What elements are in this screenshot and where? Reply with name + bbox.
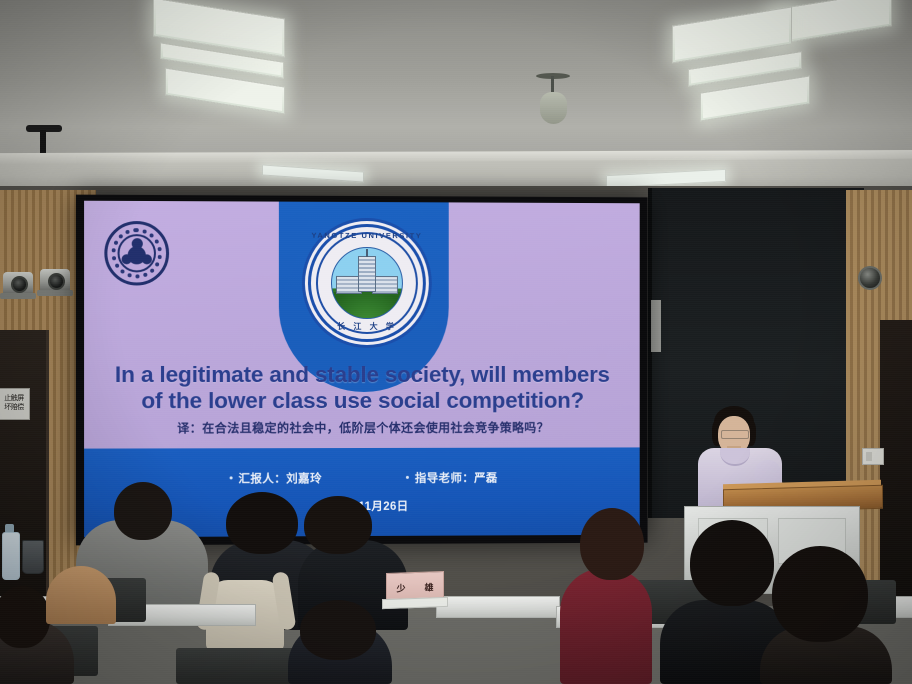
presentation-slide: YANGTZE UNIVERSITY 长 江 大 学 In a legitima… bbox=[84, 201, 640, 538]
university-seal: YANGTZE UNIVERSITY 长 江 大 学 bbox=[308, 224, 426, 342]
slide-title-cn: 译：在合法且稳定的社会中，低阶层个体还会使用社会竞争策略吗？ bbox=[98, 419, 626, 437]
audience-head bbox=[304, 496, 372, 554]
light-switch-plate[interactable] bbox=[862, 448, 884, 465]
blackboard-edge-label bbox=[651, 300, 661, 352]
audience-head bbox=[0, 586, 50, 648]
camera-base bbox=[0, 293, 36, 299]
warning-sign-line1: 止触屏 bbox=[4, 395, 24, 404]
audience-head bbox=[772, 546, 868, 642]
desk-row bbox=[436, 596, 560, 618]
slide-footer-row-credits: 汇报人：刘嘉玲 指导老师：严磊 bbox=[84, 469, 640, 487]
dome-camera-icon bbox=[858, 266, 882, 290]
warning-sign-line2: 坏赔偿 bbox=[4, 404, 24, 413]
slide-title-en-line2: of the lower class use social competitio… bbox=[98, 388, 626, 415]
door-right[interactable] bbox=[880, 320, 912, 610]
society-logo-icon bbox=[104, 221, 169, 286]
warning-sign: 止触屏 坏赔偿 bbox=[0, 388, 30, 420]
ceiling-dome-speaker-icon bbox=[540, 92, 567, 124]
ptz-camera-icon bbox=[40, 269, 70, 291]
chair-back bbox=[176, 648, 296, 684]
audience-shoulders bbox=[560, 568, 652, 684]
nameplate-char2: 雄 bbox=[424, 580, 433, 593]
thermos-cup bbox=[22, 540, 44, 574]
logo-figure-head bbox=[142, 254, 152, 264]
seal-text-en: YANGTZE UNIVERSITY bbox=[311, 231, 423, 240]
nameplate-char1: 少 bbox=[396, 581, 405, 594]
audience-head bbox=[690, 520, 774, 606]
seal-emblem bbox=[331, 247, 403, 319]
slide-title-en: In a legitimate and stable society, will… bbox=[98, 362, 626, 415]
logo-figure-head bbox=[132, 238, 143, 249]
camera-lens-icon bbox=[48, 273, 65, 290]
camera-base bbox=[37, 290, 73, 296]
ptz-camera-icon bbox=[3, 272, 33, 294]
slide-title-en-line1: In a legitimate and stable society, will… bbox=[98, 362, 626, 388]
audience-head bbox=[580, 508, 644, 580]
water-bottle bbox=[2, 532, 20, 580]
footer-presenter: 汇报人：刘嘉玲 bbox=[229, 470, 322, 486]
seal-lawn bbox=[332, 292, 402, 318]
lecture-hall-photo: 止触屏 坏赔偿 YANGTZE UNIVERSITY bbox=[0, 0, 912, 684]
camera-lens-icon bbox=[11, 276, 28, 293]
presenter-glasses-icon bbox=[721, 430, 749, 439]
audience-head bbox=[226, 492, 298, 554]
seal-text-cn: 长 江 大 学 bbox=[311, 321, 423, 332]
audience-head bbox=[114, 482, 172, 540]
seal-building-tower bbox=[358, 256, 376, 292]
logo-figure-head bbox=[122, 254, 132, 264]
footer-advisor: 指导老师：严磊 bbox=[406, 470, 498, 486]
audience-head bbox=[300, 600, 376, 660]
